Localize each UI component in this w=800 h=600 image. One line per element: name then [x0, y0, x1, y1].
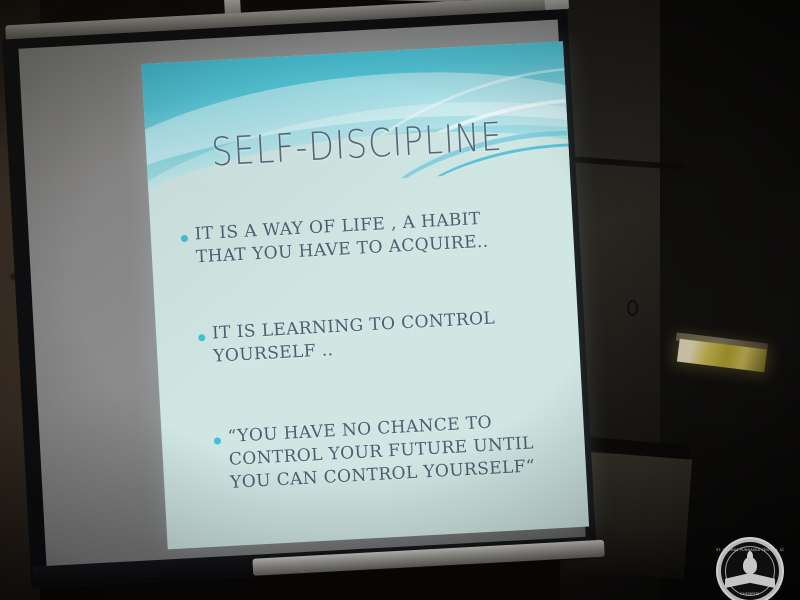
bullet-dot-icon [181, 235, 188, 242]
photo-canvas: SELF-DISCIPLINE IT IS A WAY OF LIFE , A … [0, 0, 800, 600]
slide-bullet-item: “YOU HAVE NO CHANCE TO CONTROL YOUR FUTU… [213, 408, 558, 496]
emblem-lamp-icon [743, 557, 757, 574]
slide-bullet-item: IT IS LEARNING TO CONTROL YOURSELF .. [198, 305, 548, 370]
slide-bullet-item: IT IS A WAY OF LIFE , A HABIT THAT YOU H… [180, 205, 532, 270]
projector-screen: SELF-DISCIPLINE IT IS A WAY OF LIFE , A … [0, 0, 597, 594]
door-handle [627, 300, 638, 316]
slide-body: IT IS A WAY OF LIFE , A HABIT THAT YOU H… [149, 181, 589, 549]
slide-bullet-text: “YOU HAVE NO CHANCE TO CONTROL YOUR FUTU… [227, 408, 558, 495]
school-emblem-watermark: ST. THOMAS PUNNAKKA CENTRAL SCHOOL CHEMP… [716, 537, 784, 600]
bullet-dot-icon [198, 334, 205, 341]
emblem-bottom-text: CHEMPERI [716, 592, 784, 596]
screen-border: SELF-DISCIPLINE IT IS A WAY OF LIFE , A … [2, 9, 597, 589]
presentation-slide: SELF-DISCIPLINE IT IS A WAY OF LIFE , A … [141, 41, 589, 549]
slide-bullet-text: IT IS LEARNING TO CONTROL YOURSELF .. [212, 305, 548, 369]
bullet-dot-icon [214, 437, 221, 444]
screen-surface: SELF-DISCIPLINE IT IS A WAY OF LIFE , A … [18, 20, 586, 576]
slide-bullet-text: IT IS A WAY OF LIFE , A HABIT THAT YOU H… [194, 205, 532, 269]
